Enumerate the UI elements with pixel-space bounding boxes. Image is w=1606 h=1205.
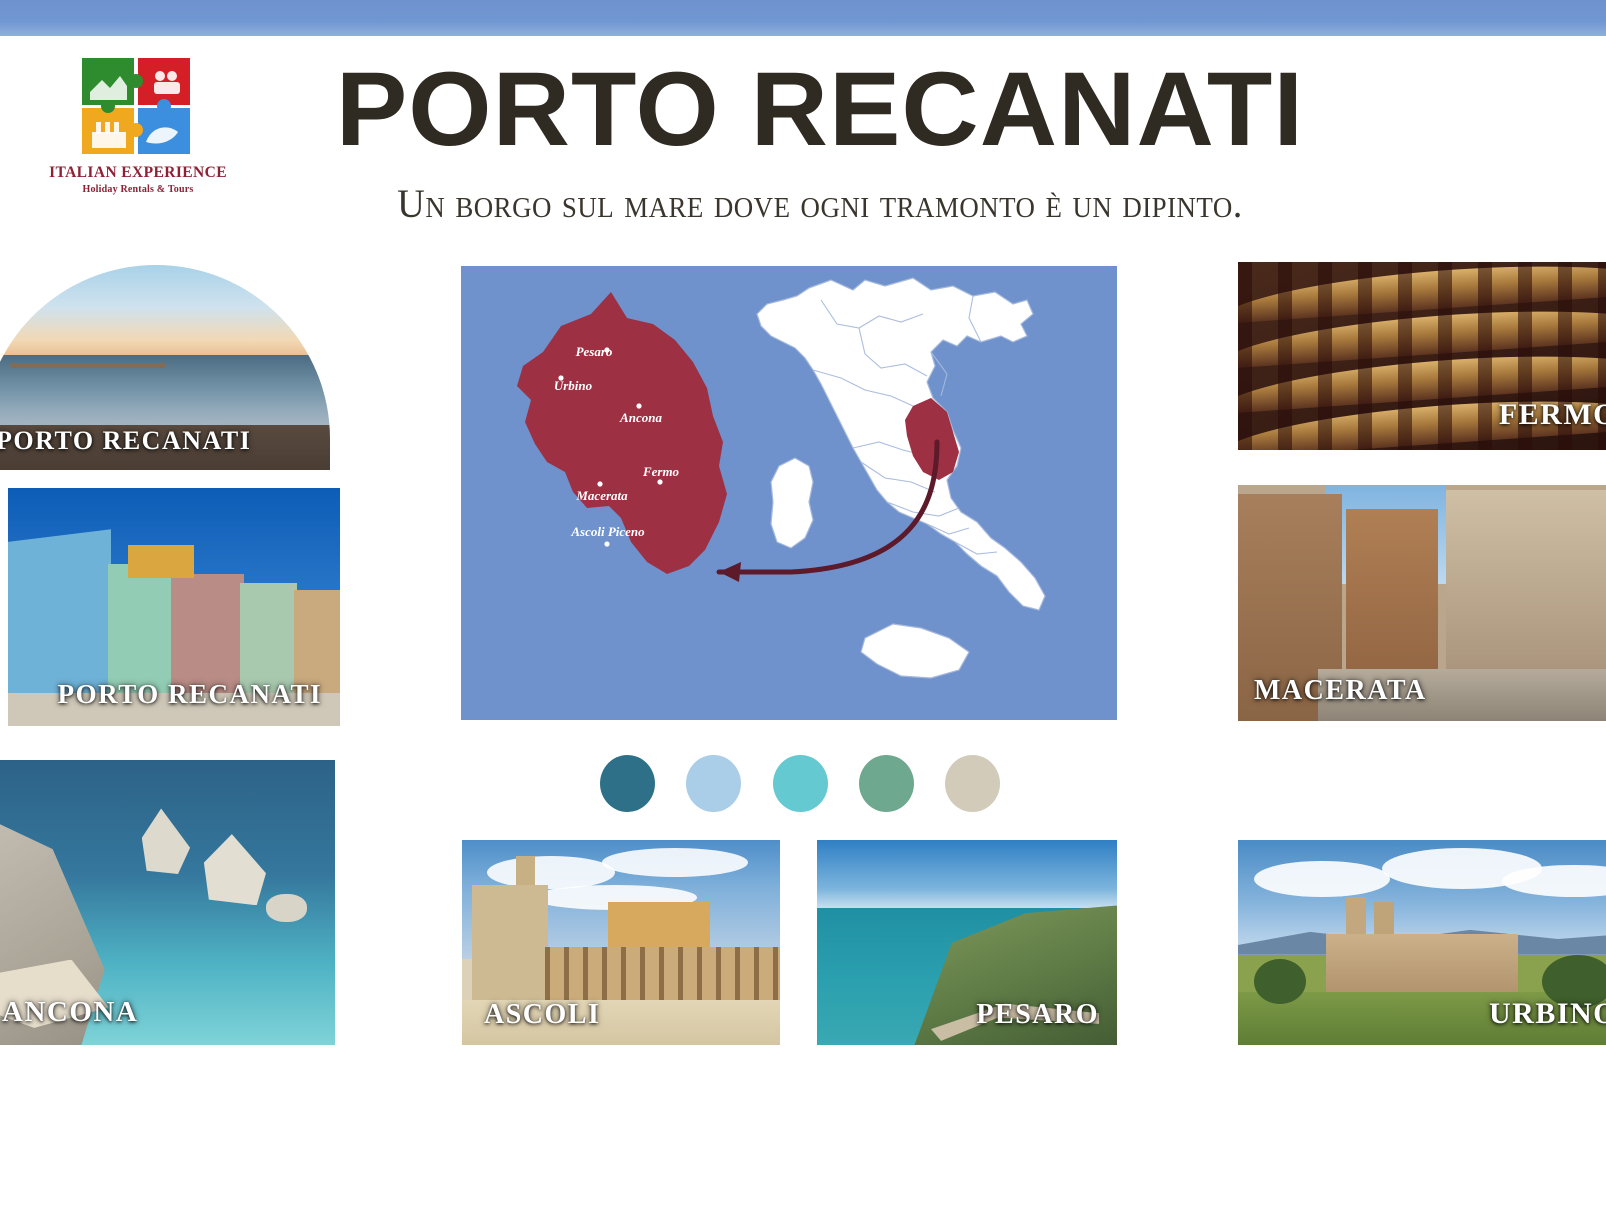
tile-caption: PORTO RECANATI (58, 679, 322, 710)
rock-small (266, 894, 307, 923)
tile-fermo[interactable]: FERMO (1238, 262, 1606, 450)
tile-ascoli[interactable]: ASCOLI (462, 840, 780, 1045)
tile-urbino[interactable]: URBINO (1238, 840, 1606, 1045)
tile-porto-recanati-houses[interactable]: PORTO RECANATI (8, 488, 340, 726)
city-dot-ancona (636, 403, 641, 408)
city-label-fermo: Fermo (642, 464, 680, 479)
brand-tagline: Holiday Rentals & Tours (38, 184, 238, 195)
page-header: ITALIAN EXPERIENCE Holiday Rentals & Tou… (0, 36, 1606, 236)
city-label-ascoli-piceno: Ascoli Piceno (570, 524, 645, 539)
tile-macerata[interactable]: MACERATA (1238, 485, 1606, 721)
brand-name: ITALIAN EXPERIENCE (38, 164, 238, 182)
tile-caption: PESARO (976, 999, 1099, 1031)
sea (0, 355, 330, 429)
tile-caption: URBINO (1489, 997, 1606, 1031)
tile-caption: ANCONA (2, 996, 138, 1029)
city-label-ancona: Ancona (619, 410, 662, 425)
sky (817, 840, 1117, 910)
city-dot-macerata (597, 481, 602, 486)
swatch-turquoise[interactable] (773, 755, 828, 812)
city-label-urbino: Urbino (554, 378, 593, 393)
tile-caption: FERMO (1499, 398, 1606, 432)
city-dot-fermo (657, 479, 662, 484)
building-right (1446, 490, 1606, 684)
swatch-light-blue[interactable] (686, 755, 741, 812)
puzzle-four-pieces-icon (80, 56, 192, 156)
tile-caption: MACERATA (1254, 675, 1427, 707)
tile-pesaro[interactable]: PESARO (817, 840, 1117, 1045)
cloud (1254, 861, 1390, 898)
tile-caption: ASCOLI (484, 999, 600, 1031)
house-yellow-top (128, 545, 194, 578)
tree (1254, 959, 1306, 1004)
italy-mainland (757, 278, 1045, 610)
city-dot-ascoli-piceno (604, 541, 609, 546)
swatch-sage-green[interactable] (859, 755, 914, 812)
city-label-macerata: Macerata (575, 488, 628, 503)
page-subtitle: Un borgo sul mare dove ogni tramonto è u… (254, 182, 1387, 226)
color-palette (600, 752, 1000, 814)
swatch-deep-teal[interactable] (600, 755, 655, 812)
tile-ancona[interactable]: ANCONA (0, 760, 335, 1045)
brand-logo: ITALIAN EXPERIENCE Holiday Rentals & Tou… (38, 56, 238, 216)
sunset-sky (0, 265, 330, 359)
tile-porto-recanati-beach[interactable]: PORTO RECANATI (0, 265, 330, 470)
arcade-loggia (545, 947, 780, 1004)
tile-caption: PORTO RECANATI (0, 426, 251, 456)
palazzo (608, 902, 710, 953)
church-facade (472, 885, 548, 1012)
sardinia (771, 458, 813, 548)
sicily (861, 624, 969, 678)
italy-map-panel[interactable]: Pesaro Urbino Ancona Fermo Macerata Asco… (461, 266, 1117, 720)
swatch-sand-beige[interactable] (945, 755, 1000, 812)
cloud (602, 848, 748, 877)
italy-map-svg: Pesaro Urbino Ancona Fermo Macerata Asco… (461, 266, 1117, 720)
city-label-pesaro: Pesaro (576, 344, 613, 359)
top-color-band (0, 0, 1606, 36)
page-title: PORTO RECANATI (218, 58, 1422, 162)
